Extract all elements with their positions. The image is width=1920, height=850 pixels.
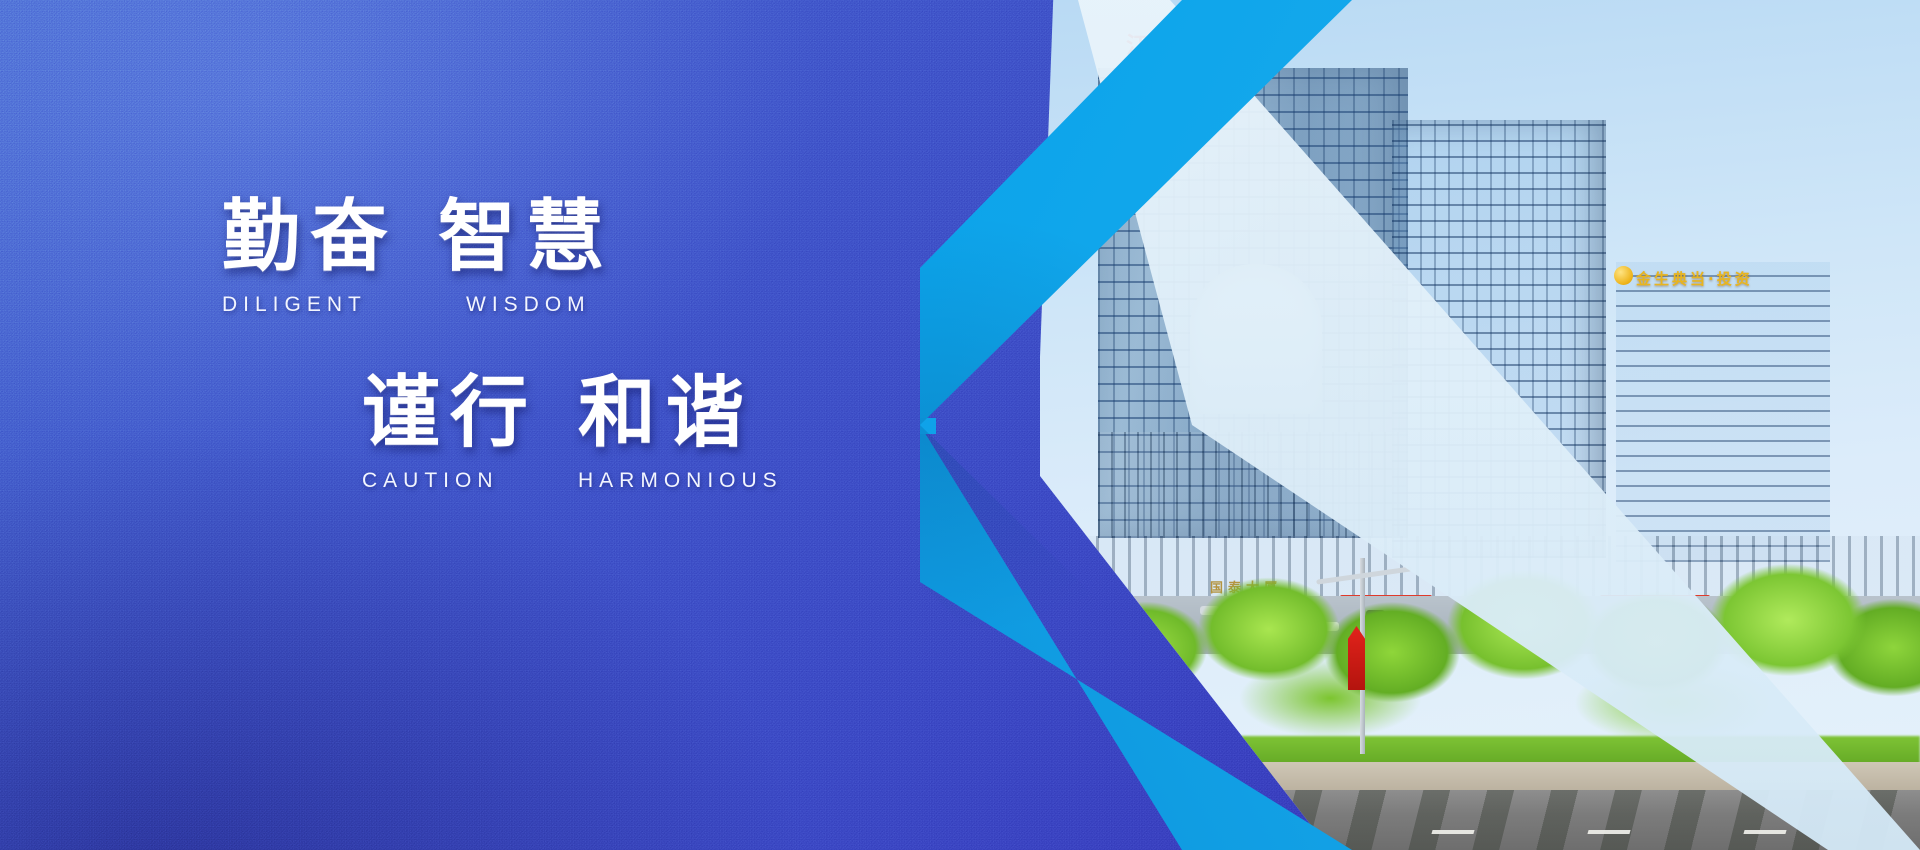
slogan-word-harmonious-en: HARMONIOUS: [578, 469, 783, 493]
slogan-word-caution-en: CAUTION: [362, 469, 578, 493]
slogan-block: 勤奋 智慧 DILIGENT WISDOM 谨行 和谐 CAUTION HARM…: [0, 0, 900, 850]
chevron-upper-arm: [920, 0, 1920, 850]
culture-banner: 江苏国泰 金生典当·投资 国泰大厦: [0, 0, 1920, 850]
slogan-line-2-chinese: 谨行 和谐: [362, 372, 783, 455]
slogan-word-harmonious-cn: 和谐: [578, 372, 754, 455]
slogan-line-1-english: DILIGENT WISDOM: [222, 293, 614, 317]
cyan-chevron: [920, 0, 1920, 850]
slogan-word-diligent-cn: 勤奋: [222, 196, 398, 279]
slogan-line-1-chinese: 勤奋 智慧: [222, 196, 614, 279]
slogan-line-1: 勤奋 智慧 DILIGENT WISDOM: [222, 196, 614, 317]
slogan-word-wisdom-en: WISDOM: [466, 293, 591, 317]
slogan-line-2: 谨行 和谐 CAUTION HARMONIOUS: [362, 372, 783, 493]
slogan-word-wisdom-cn: 智慧: [438, 196, 614, 279]
chevron-apex: [920, 418, 936, 434]
slogan-word-diligent-en: DILIGENT: [222, 293, 466, 317]
slogan-word-caution-cn: 谨行: [362, 372, 538, 455]
slogan-line-2-english: CAUTION HARMONIOUS: [362, 469, 783, 493]
